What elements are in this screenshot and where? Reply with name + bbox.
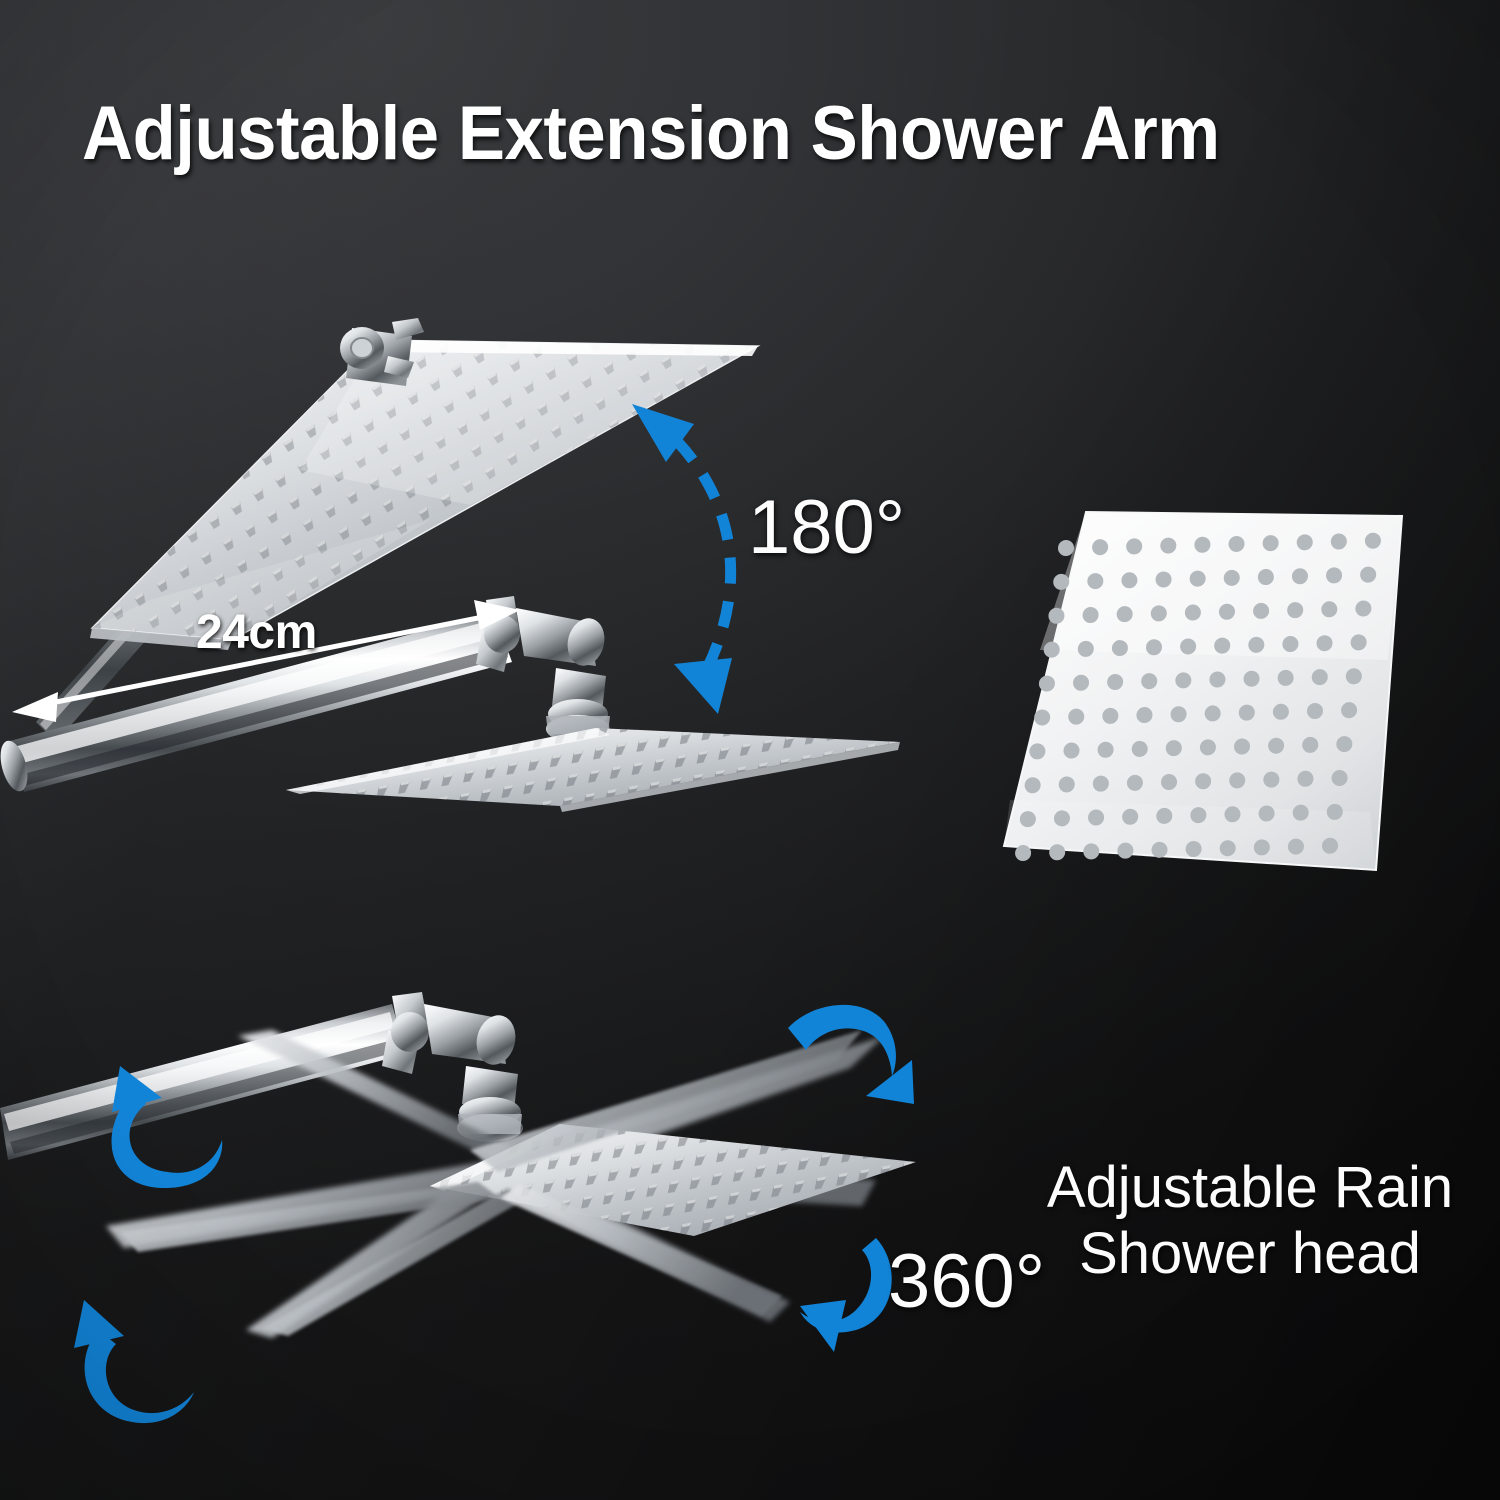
rain-label-line-1: Adjustable Rain <box>1040 1155 1460 1221</box>
rain-shower-head-label: Adjustable Rain Shower head <box>1040 1155 1460 1286</box>
rain-label-line-2: Shower head <box>1040 1221 1460 1287</box>
page-title: Adjustable Extension Shower Arm <box>82 96 1328 172</box>
dimension-label-24cm: 24cm <box>196 605 317 660</box>
product-image-canvas: Adjustable Extension Shower Arm 24cm 180… <box>0 0 1500 1500</box>
angle-label-180: 180° <box>748 484 905 571</box>
angle-label-360: 360° <box>888 1238 1045 1325</box>
